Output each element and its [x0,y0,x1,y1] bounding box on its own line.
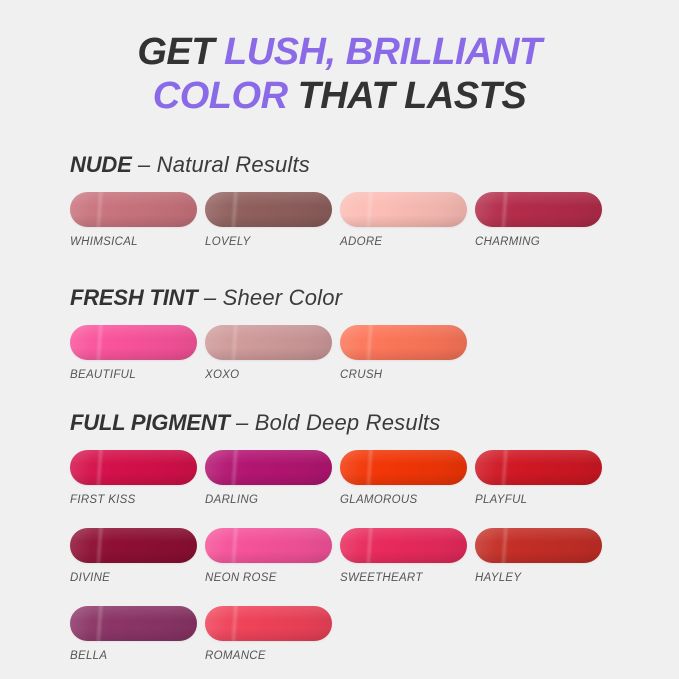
section-title-name: FRESH TINT [70,285,198,310]
section-title: FRESH TINT – Sheer Color [70,285,630,311]
swatch-sheen-overlay [205,606,332,620]
section-title: NUDE – Natural Results [70,152,630,178]
swatch-cell[interactable]: FIRST KISS [70,450,205,507]
color-swatch[interactable] [70,192,197,227]
swatch-label: CRUSH [340,368,467,382]
swatch-sheen-overlay [70,528,197,542]
color-swatch[interactable] [205,325,332,360]
swatch-cell[interactable]: NEON ROSE [205,528,340,585]
color-swatch[interactable] [340,528,467,563]
swatch-label: BELLA [70,649,197,663]
color-swatch[interactable] [205,606,332,641]
swatch-cell[interactable]: HAYLEY [475,528,610,585]
swatch-cell[interactable]: BELLA [70,606,205,663]
color-swatch[interactable] [70,325,197,360]
swatch-cell[interactable]: PLAYFUL [475,450,610,507]
row-spacer [70,507,630,528]
swatch-sheen-overlay [70,348,197,360]
swatch-cell[interactable]: DIVINE [70,528,205,585]
swatch-sheen-overlay [205,528,332,542]
swatch-row: FIRST KISSDARLINGGLAMOROUSPLAYFUL [70,450,630,507]
headline-text-get: GET [137,31,224,73]
swatch-cell[interactable]: CHARMING [475,192,610,249]
swatch-row: BELLAROMANCE [70,606,630,663]
swatch-cell[interactable]: XOXO [205,325,340,382]
page-title: GET LUSH, BRILLIANT COLOR THAT LASTS [0,30,679,118]
swatch-sheen-overlay [340,192,467,206]
headline-accent-color: COLOR [153,75,288,117]
swatch-cell[interactable]: ADORE [340,192,475,249]
swatch-sheen-overlay [205,325,332,339]
swatch-label: DIVINE [70,571,197,585]
swatch-cell-inner: BELLA [70,606,197,663]
swatch-sheen-overlay [205,629,332,641]
swatch-cell-inner: HAYLEY [475,528,602,585]
color-swatch[interactable] [70,606,197,641]
section-title-name: NUDE [70,152,132,177]
swatch-sheen-overlay [205,215,332,227]
section-title-subtitle: – Natural Results [132,152,310,177]
swatch-cell-inner: XOXO [205,325,332,382]
swatch-label: NEON ROSE [205,571,332,585]
color-swatch[interactable] [475,450,602,485]
swatch-sheen-overlay [70,192,197,206]
swatch-label: XOXO [205,368,332,382]
color-swatch[interactable] [70,450,197,485]
swatch-sheen-overlay [340,551,467,563]
swatch-cell[interactable]: GLAMOROUS [340,450,475,507]
swatch-cell-inner: ROMANCE [205,606,332,663]
color-swatch[interactable] [205,192,332,227]
swatch-cell-inner: CRUSH [340,325,467,382]
swatch-label: FIRST KISS [70,493,197,507]
swatch-cell[interactable]: ROMANCE [205,606,340,663]
row-spacer [70,585,630,606]
swatch-row: WHIMSICALLOVELYADORECHARMING [70,192,630,249]
swatch-sheen-overlay [475,551,602,563]
swatch-sheen-overlay [475,192,602,206]
swatch-sheen-overlay [475,450,602,464]
swatch-sheen-overlay [70,473,197,485]
swatch-cell-inner: BEAUTIFUL [70,325,197,382]
swatch-sheen-overlay [70,551,197,563]
swatch-cell[interactable]: CRUSH [340,325,475,382]
swatch-sheen-overlay [70,606,197,620]
swatch-sheen-overlay [70,215,197,227]
swatch-cell-inner: NEON ROSE [205,528,332,585]
section-title: FULL PIGMENT – Bold Deep Results [70,410,630,436]
swatch-sheen-overlay [340,325,467,339]
swatch-label: SWEETHEART [340,571,467,585]
swatch-sheen-overlay [70,629,197,641]
headline-accent-lush-brilliant: LUSH, BRILLIANT [224,31,542,73]
swatch-cell-inner: SWEETHEART [340,528,467,585]
swatch-label: ADORE [340,235,467,249]
headline-line-1: GET LUSH, BRILLIANT [0,30,679,74]
color-swatch[interactable] [205,528,332,563]
headline-text-that-lasts: THAT LASTS [288,75,527,117]
swatch-sheen-overlay [475,215,602,227]
swatch-row: DIVINENEON ROSESWEETHEARTHAYLEY [70,528,630,585]
swatch-label: PLAYFUL [475,493,602,507]
swatch-cell-inner: GLAMOROUS [340,450,467,507]
swatch-sheen-overlay [205,450,332,464]
section-nude: NUDE – Natural ResultsWHIMSICALLOVELYADO… [70,152,630,249]
swatch-sheen-overlay [205,473,332,485]
swatch-sheen-overlay [205,192,332,206]
swatch-cell[interactable]: DARLING [205,450,340,507]
swatch-sheen-overlay [205,551,332,563]
swatch-sheen-overlay [70,450,197,464]
color-swatch[interactable] [340,192,467,227]
swatch-label: DARLING [205,493,332,507]
swatch-sheen-overlay [475,473,602,485]
swatch-sheen-overlay [340,528,467,542]
swatch-label: WHIMSICAL [70,235,197,249]
color-swatch[interactable] [205,450,332,485]
color-swatch[interactable] [475,192,602,227]
lipstick-shade-chart: GET LUSH, BRILLIANT COLOR THAT LASTS NUD… [0,0,679,679]
swatch-sheen-overlay [340,450,467,464]
section-full-pigment: FULL PIGMENT – Bold Deep ResultsFIRST KI… [70,410,630,663]
swatch-sheen-overlay [340,348,467,360]
swatch-cell-inner: DARLING [205,450,332,507]
section-title-subtitle: – Bold Deep Results [230,410,441,435]
swatch-sheen-overlay [475,528,602,542]
swatch-label: ROMANCE [205,649,332,663]
swatch-cell-inner: FIRST KISS [70,450,197,507]
swatch-label: CHARMING [475,235,602,249]
section-title-subtitle: – Sheer Color [198,285,343,310]
color-swatch[interactable] [340,325,467,360]
swatch-cell-inner: DIVINE [70,528,197,585]
swatch-cell-inner: LOVELY [205,192,332,249]
color-swatch[interactable] [70,528,197,563]
section-title-name: FULL PIGMENT [70,410,230,435]
swatch-cell[interactable]: BEAUTIFUL [70,325,205,382]
swatch-cell-inner: WHIMSICAL [70,192,197,249]
section-fresh-tint: FRESH TINT – Sheer ColorBEAUTIFULXOXOCRU… [70,285,630,382]
swatch-label: GLAMOROUS [340,493,467,507]
color-swatch[interactable] [340,450,467,485]
swatch-sheen-overlay [340,473,467,485]
color-swatch[interactable] [475,528,602,563]
swatch-label: HAYLEY [475,571,602,585]
headline-line-2: COLOR THAT LASTS [0,74,679,118]
swatch-sheen-overlay [70,325,197,339]
swatch-label: LOVELY [205,235,332,249]
swatch-label: BEAUTIFUL [70,368,197,382]
swatch-cell[interactable]: LOVELY [205,192,340,249]
swatch-cell[interactable]: SWEETHEART [340,528,475,585]
swatch-cell-inner: CHARMING [475,192,602,249]
swatch-sheen-overlay [205,348,332,360]
swatch-cell[interactable]: WHIMSICAL [70,192,205,249]
swatch-cell-inner: PLAYFUL [475,450,602,507]
swatch-row: BEAUTIFULXOXOCRUSH [70,325,630,382]
swatch-sheen-overlay [340,215,467,227]
swatch-cell-inner: ADORE [340,192,467,249]
